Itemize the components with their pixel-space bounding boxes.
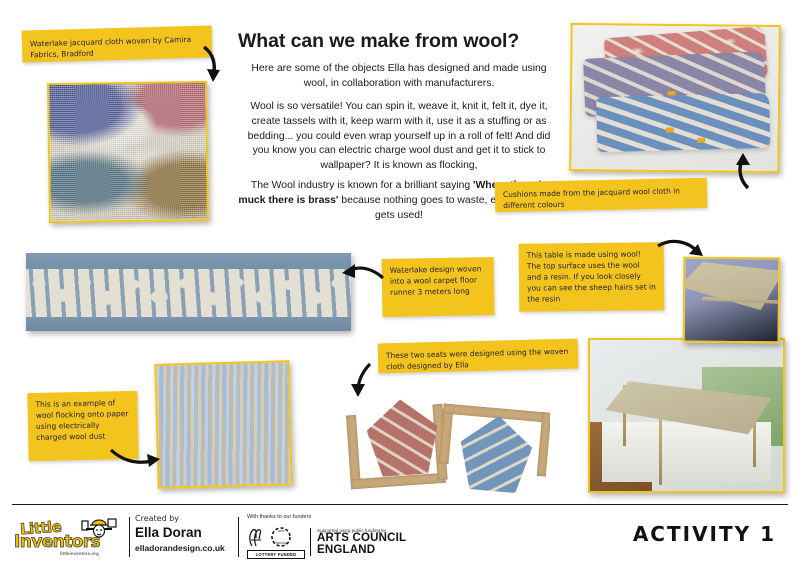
note-cushions: Cushions made from the jacquard wool clo…	[495, 178, 708, 212]
footer-divider-1	[129, 517, 130, 557]
arrow-to-runner	[338, 262, 386, 286]
wool-carpet-runner-photo	[26, 253, 351, 331]
arts-council-england-logo: Supported using public funding by ARTS C…	[310, 528, 406, 556]
resin-corner	[685, 259, 779, 342]
versatile-paragraph: Wool is so versatile! You can spin it, w…	[238, 100, 560, 174]
saying-lead: The Wool industry is known for a brillia…	[251, 180, 470, 191]
runner-surface	[26, 253, 351, 331]
arrow-to-flocking	[108, 444, 164, 472]
little-inventors-logo[interactable]: Little Inventors littleinventors.org	[14, 515, 122, 559]
funders-block: With thanks to our funders ARTS ENGLAND	[247, 514, 477, 559]
arrow-to-cushions	[726, 150, 758, 192]
page-title: What can we make from wool?	[238, 30, 568, 53]
lottery-funded-caption: LOTTERY FUNDED	[247, 550, 305, 559]
worksheet-page: What can we make from wool? Here are som…	[0, 0, 800, 566]
cushion-blue	[596, 93, 770, 152]
inventor-character-icon	[78, 515, 120, 541]
logo-url-text: littleinventors.org	[60, 551, 99, 556]
crossed-fingers-icon	[247, 527, 265, 547]
ace-line-1: ARTS COUNCIL	[317, 533, 406, 545]
wool-resin-table-photo	[588, 338, 785, 493]
note-seats: These two seats were designed using the …	[378, 339, 579, 374]
activity-label: ACTIVITY 1	[633, 522, 776, 546]
note-table: This table is made using wool! The top s…	[519, 242, 665, 312]
two-pentagon-seats-photo	[335, 385, 550, 495]
arrow-to-seats	[344, 360, 378, 400]
credits-block: Created by Ella Doran elladorandesign.co…	[135, 514, 265, 553]
author-website[interactable]: elladorandesign.co.uk	[135, 543, 265, 553]
jacquard-fabric-swatch	[47, 81, 209, 223]
note-runner: Waterlake design woven into a wool carpe…	[382, 257, 495, 317]
lottery-funded-logo: ARTS ENGLAND LOTTERY FUNDED	[247, 525, 305, 559]
funders-label: With thanks to our funders	[247, 514, 477, 520]
jacquard-weave-texture	[49, 83, 207, 221]
arrow-to-jacquard	[196, 44, 230, 86]
table-corner-detail-photo	[683, 257, 781, 344]
svg-text:ENGLAND: ENGLAND	[276, 542, 287, 545]
intro-paragraph: Here are some of the objects Ella has de…	[238, 62, 560, 92]
flocked-paper-sample	[154, 360, 292, 489]
author-name: Ella Doran	[135, 525, 265, 540]
flocking-texture	[156, 362, 290, 487]
ace-line-2: ENGLAND	[317, 545, 406, 557]
svg-text:ARTS: ARTS	[278, 529, 285, 533]
created-by-label: Created by	[135, 514, 265, 523]
note-jacquard: Waterlake jacquard cloth woven by Camira…	[22, 25, 213, 62]
arts-council-ring-icon: ARTS ENGLAND	[268, 525, 294, 549]
table-scene	[590, 340, 783, 491]
footer-divider-2	[238, 517, 239, 557]
footer: Little Inventors littleinventors.org Cre…	[0, 505, 800, 566]
seat-blue	[434, 398, 550, 495]
